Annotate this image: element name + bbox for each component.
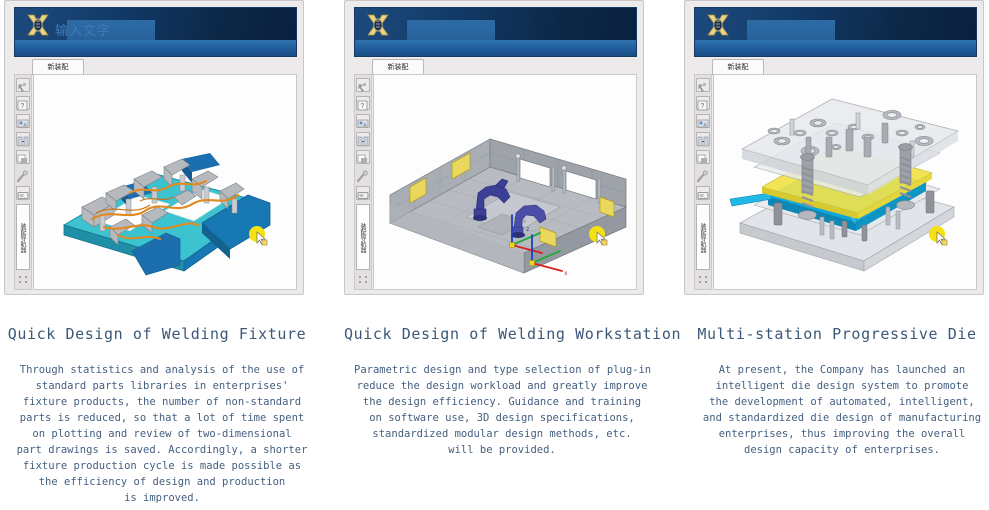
move-component-icon[interactable] [16, 132, 30, 146]
tool-sidebar: ? 装配 [354, 74, 372, 290]
dot-grid-icon[interactable] [356, 274, 370, 286]
cad-viewport-progressive-die[interactable] [713, 74, 977, 290]
dot-grid-icon[interactable] [696, 274, 710, 286]
measure-icon[interactable] [696, 168, 710, 182]
svg-text:z: z [526, 226, 530, 233]
body-line: will be provided. [354, 442, 650, 458]
title-bar-ghost-text: 输入文字 [55, 20, 111, 39]
browse-icon[interactable] [16, 186, 30, 200]
pattern-icon[interactable] [696, 114, 710, 128]
move-component-icon[interactable] [356, 132, 370, 146]
pattern-icon[interactable] [356, 114, 370, 128]
app-title-bar [354, 7, 637, 57]
document-tab[interactable]: 新装配 [712, 59, 764, 75]
app-title-bar [694, 7, 977, 57]
document-tab-strip: 新装配 [14, 59, 297, 75]
cad-viewport-welding-fixture[interactable] [33, 74, 297, 290]
panel-title: Multi-station Progressive Die [684, 325, 989, 343]
gear-icon[interactable] [18, 289, 29, 295]
title-bar-dark-band [355, 8, 636, 42]
title-bar-tab-block[interactable] [747, 20, 835, 42]
arrow-cursor-highlight [928, 225, 950, 247]
panel-title: Quick Design of Welding Workstation [344, 325, 650, 343]
app-title-bar: 输入文字 [14, 7, 297, 57]
cad-app-window: 输入文字 新装配 [4, 0, 304, 295]
body-line: parts is reduced, so that a lot of time … [14, 410, 310, 426]
body-line: fixture production cycle is made possibl… [14, 458, 310, 474]
work-area: ? 装配 [14, 74, 297, 290]
svg-text:?: ? [20, 103, 24, 111]
component-add-icon[interactable]: ? [696, 96, 710, 110]
body-line: is improved. [14, 490, 310, 506]
title-bar-tab-block[interactable] [407, 20, 495, 42]
pattern-icon[interactable] [16, 114, 30, 128]
svg-text:?: ? [360, 103, 364, 111]
body-line: the development of automated, intelligen… [694, 394, 989, 410]
document-tab[interactable]: 新装配 [372, 59, 424, 75]
body-line: design capacity of enterprises. [694, 442, 989, 458]
body-line: the efficiency of design and production [14, 474, 310, 490]
showcase-panel-welding-workstation: 新装配 ? [344, 0, 650, 510]
tool-sidebar: ? 装配 [14, 74, 32, 290]
panel-body: At present, the Company has launched an … [694, 362, 989, 458]
component-add-icon[interactable]: ? [16, 96, 30, 110]
panel-body: Through statistics and analysis of the u… [14, 362, 310, 506]
select-tool-icon[interactable] [696, 78, 710, 92]
showcase-panel-progressive-die: 新装配 ? [684, 0, 989, 510]
move-component-icon[interactable] [696, 132, 710, 146]
cad-app-window: 新装配 ? [684, 0, 984, 295]
panel-body: Parametric design and type selection of … [354, 362, 650, 458]
measure-icon[interactable] [356, 168, 370, 182]
select-tool-icon[interactable] [16, 78, 30, 92]
component-add-icon[interactable]: ? [356, 96, 370, 110]
body-line: and standardized die design of manufactu… [694, 410, 989, 426]
body-line: fixture products, the number of non-stan… [14, 394, 310, 410]
body-line: on plotting and review of two-dimensiona… [14, 426, 310, 442]
body-line: standard parts libraries in enterprises' [14, 378, 310, 394]
assembly-navigator-label[interactable]: 装配导航器 [16, 204, 30, 270]
dot-grid-icon[interactable] [16, 274, 30, 286]
arrow-cursor-highlight [588, 225, 610, 247]
showcase-board: 输入文字 新装配 [0, 0, 989, 510]
browse-icon[interactable] [696, 186, 710, 200]
title-bar-light-band [695, 40, 976, 56]
panel-title: Quick Design of Welding Fixture [4, 325, 310, 343]
body-line: standardized modular design methods, etc… [354, 426, 650, 442]
assembly-navigator-label[interactable]: 装配导航器 [356, 204, 370, 270]
body-line: enterprises, thus improving the overall [694, 426, 989, 442]
gear-icon[interactable] [358, 289, 369, 295]
x-emblem-logo [365, 13, 391, 37]
work-area: ? 装配 [694, 74, 977, 290]
x-emblem-logo [705, 13, 731, 37]
body-line: Through statistics and analysis of the u… [14, 362, 310, 378]
mirror-icon[interactable] [16, 150, 30, 164]
cad-viewport-welding-workstation[interactable]: x z [373, 74, 637, 290]
body-line: Parametric design and type selection of … [354, 362, 650, 378]
document-tab-strip: 新装配 [694, 59, 977, 75]
body-line: the design efficiency. Guidance and trai… [354, 394, 650, 410]
cad-app-window: 新装配 ? [344, 0, 644, 295]
mirror-icon[interactable] [696, 150, 710, 164]
title-bar-light-band [355, 40, 636, 56]
body-line: part drawings is saved. Accordingly, a s… [14, 442, 310, 458]
tool-sidebar: ? 装配 [694, 74, 712, 290]
arrow-cursor-highlight [248, 225, 270, 247]
body-line: intelligent die design system to promote [694, 378, 989, 394]
title-bar-light-band [15, 40, 296, 56]
work-area: ? 装配 [354, 74, 637, 290]
browse-icon[interactable] [356, 186, 370, 200]
gear-icon[interactable] [698, 289, 709, 295]
svg-text:?: ? [700, 103, 704, 111]
title-bar-dark-band [695, 8, 976, 42]
svg-text:x: x [564, 270, 568, 277]
select-tool-icon[interactable] [356, 78, 370, 92]
x-emblem-logo [25, 13, 51, 37]
body-line: reduce the design workload and greatly i… [354, 378, 650, 394]
measure-icon[interactable] [16, 168, 30, 182]
assembly-navigator-label[interactable]: 装配导航器 [696, 204, 710, 270]
mirror-icon[interactable] [356, 150, 370, 164]
document-tab[interactable]: 新装配 [32, 59, 84, 75]
showcase-panel-welding-fixture: 输入文字 新装配 [4, 0, 310, 510]
document-tab-strip: 新装配 [354, 59, 637, 75]
body-line: on software use, 3D design specification… [354, 410, 650, 426]
body-line: At present, the Company has launched an [694, 362, 989, 378]
